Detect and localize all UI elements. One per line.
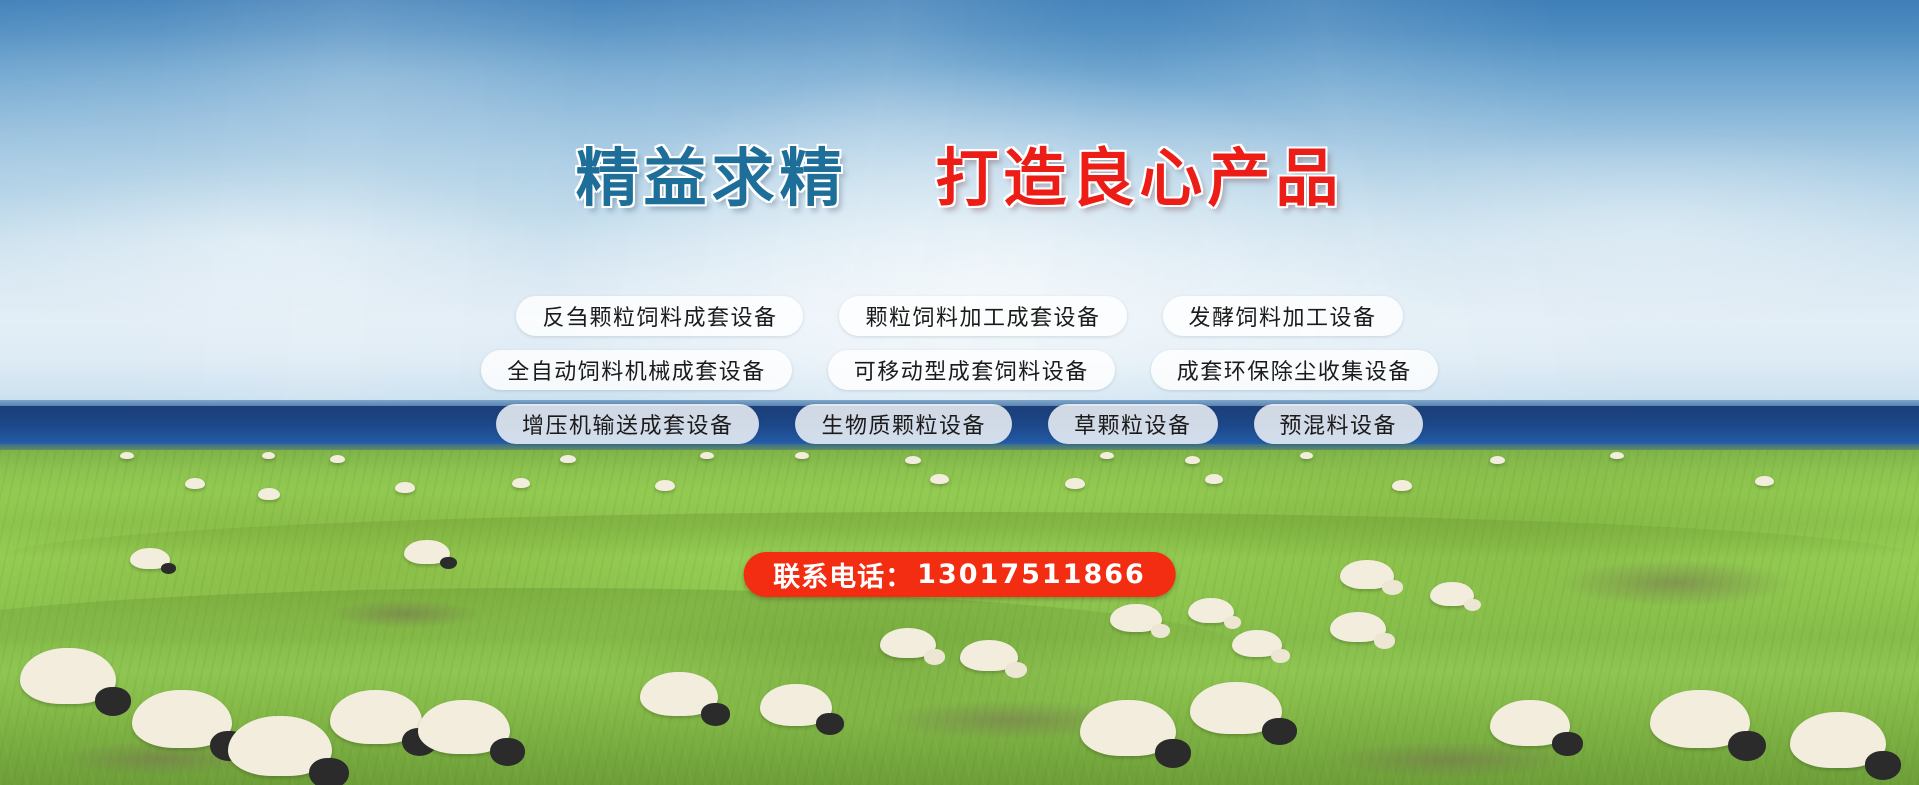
product-pill-huanbao-chuchen[interactable]: 成套环保除尘收集设备 — [1151, 350, 1438, 390]
sheep — [1190, 682, 1282, 734]
sheep — [640, 672, 718, 716]
sheep — [228, 716, 332, 776]
sheep — [1340, 560, 1394, 589]
sheep — [1490, 700, 1570, 746]
sheep — [1110, 604, 1162, 632]
sheep — [258, 488, 280, 500]
product-pill-zengyaji[interactable]: 增压机输送成套设备 — [496, 404, 760, 444]
sheep — [185, 478, 205, 489]
sheep — [880, 628, 936, 658]
sheep — [960, 640, 1018, 671]
sheep — [130, 548, 170, 569]
product-pill-fajiao[interactable]: 发酵饲料加工设备 — [1163, 296, 1403, 336]
sheep — [1790, 712, 1886, 768]
product-pill-quanzidong[interactable]: 全自动饲料机械成套设备 — [481, 350, 792, 390]
headline: 精益求精 打造良心产品 — [0, 142, 1919, 216]
product-pill-keyidong[interactable]: 可移动型成套饲料设备 — [828, 350, 1115, 390]
contact-phone-button[interactable]: 联系电话： 13017511866 — [743, 552, 1176, 597]
sheep — [395, 482, 415, 493]
sheep — [1650, 690, 1750, 748]
dirt-patch — [330, 600, 480, 628]
sheep — [930, 474, 949, 484]
product-category-row-3: 增压机输送成套设备 生物质颗粒设备 草颗粒设备 预混料设备 — [0, 404, 1919, 444]
sheep — [330, 690, 422, 744]
sheep — [1232, 630, 1282, 657]
sheep — [418, 700, 510, 754]
contact-phone-number: 13017511866 — [917, 559, 1146, 590]
hero-banner: 精益求精 打造良心产品 反刍颗粒饲料成套设备 颗粒饲料加工成套设备 发酵饲料加工… — [0, 0, 1919, 785]
product-pill-fanchu[interactable]: 反刍颗粒饲料成套设备 — [516, 296, 803, 336]
sheep — [1392, 480, 1412, 491]
product-category-list: 反刍颗粒饲料成套设备 颗粒饲料加工成套设备 发酵饲料加工设备 全自动饲料机械成套… — [0, 296, 1919, 458]
product-category-row-1: 反刍颗粒饲料成套设备 颗粒饲料加工成套设备 发酵饲料加工设备 — [0, 296, 1919, 336]
sheep — [20, 648, 116, 704]
product-pill-caokeli[interactable]: 草颗粒设备 — [1048, 404, 1218, 444]
sheep — [655, 480, 675, 491]
sheep — [1330, 612, 1386, 642]
sheep — [1188, 598, 1234, 623]
headline-part-red: 打造良心产品 — [935, 142, 1343, 215]
product-pill-yuhunliao[interactable]: 预混料设备 — [1254, 404, 1424, 444]
sheep — [1080, 700, 1176, 756]
sheep — [760, 684, 832, 726]
sheep — [1755, 476, 1774, 486]
product-pill-keli-jiagong[interactable]: 颗粒饲料加工成套设备 — [839, 296, 1126, 336]
product-category-row-2: 全自动饲料机械成套设备 可移动型成套饲料设备 成套环保除尘收集设备 — [0, 350, 1919, 390]
headline-part-blue: 精益求精 — [576, 142, 848, 215]
sheep — [1065, 478, 1085, 489]
dirt-patch — [1560, 560, 1790, 606]
product-pill-shengwuzhi[interactable]: 生物质颗粒设备 — [795, 404, 1012, 444]
sheep — [512, 478, 530, 488]
sheep — [1205, 474, 1223, 484]
dirt-patch — [1330, 742, 1570, 778]
sheep — [132, 690, 232, 748]
sheep — [1430, 582, 1474, 606]
contact-phone-label: 联系电话： — [773, 555, 913, 594]
sheep — [404, 540, 450, 564]
